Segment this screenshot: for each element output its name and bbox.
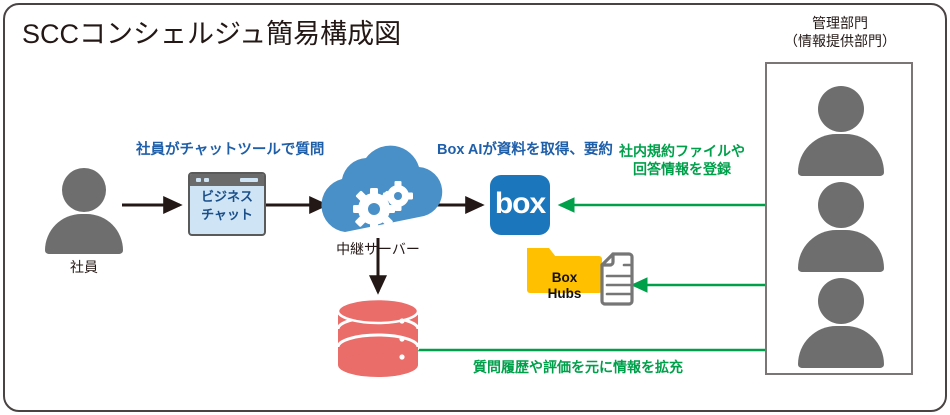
page-title: SCCコンシェルジュ簡易構成図 xyxy=(22,12,401,51)
employee-person-icon xyxy=(45,168,123,253)
box-logo-icon: box xyxy=(490,175,550,235)
business-chat-line1: ビジネス xyxy=(190,188,264,206)
annotation-expand-info: 質問履歴や評価を元に情報を拡充 xyxy=(438,358,718,376)
annotation-box-ai: Box AIが資料を取得、要約 xyxy=(437,138,613,159)
chat-dot-2 xyxy=(204,178,209,182)
employee-label: 社員 xyxy=(45,258,123,276)
box-hubs-line2: Hubs xyxy=(527,286,602,302)
business-chat-line2: チャット xyxy=(190,206,264,224)
annotation-register-files: 社内規約ファイルや 回答情報を登録 xyxy=(602,142,762,178)
business-chat-icon: ビジネス チャット xyxy=(188,172,266,236)
box-logo-text: box xyxy=(495,189,545,219)
diagram-canvas: SCCコンシェルジュ簡易構成図 xyxy=(0,0,950,415)
annotation-register-files-line2: 回答情報を登録 xyxy=(602,160,762,178)
chat-dash xyxy=(240,178,258,182)
department-person-3 xyxy=(798,278,884,368)
annotation-chat-question: 社員がチャットツールで質問 xyxy=(136,138,324,159)
department-person-1 xyxy=(798,86,884,176)
annotation-register-files-line1: 社内規約ファイルや xyxy=(602,142,762,160)
department-title-line2: （情報提供部門） xyxy=(765,32,915,50)
department-box xyxy=(765,62,913,375)
chat-dot-1 xyxy=(196,178,201,182)
department-person-2 xyxy=(798,182,884,272)
department-title-line1: 管理部門 xyxy=(765,14,915,32)
department-title: 管理部門 （情報提供部門） xyxy=(765,14,915,50)
box-hubs-line1: Box xyxy=(527,270,602,286)
relay-server-label: 中継サーバー xyxy=(318,240,438,258)
box-hubs-label-wrap: Box Hubs xyxy=(527,250,602,295)
